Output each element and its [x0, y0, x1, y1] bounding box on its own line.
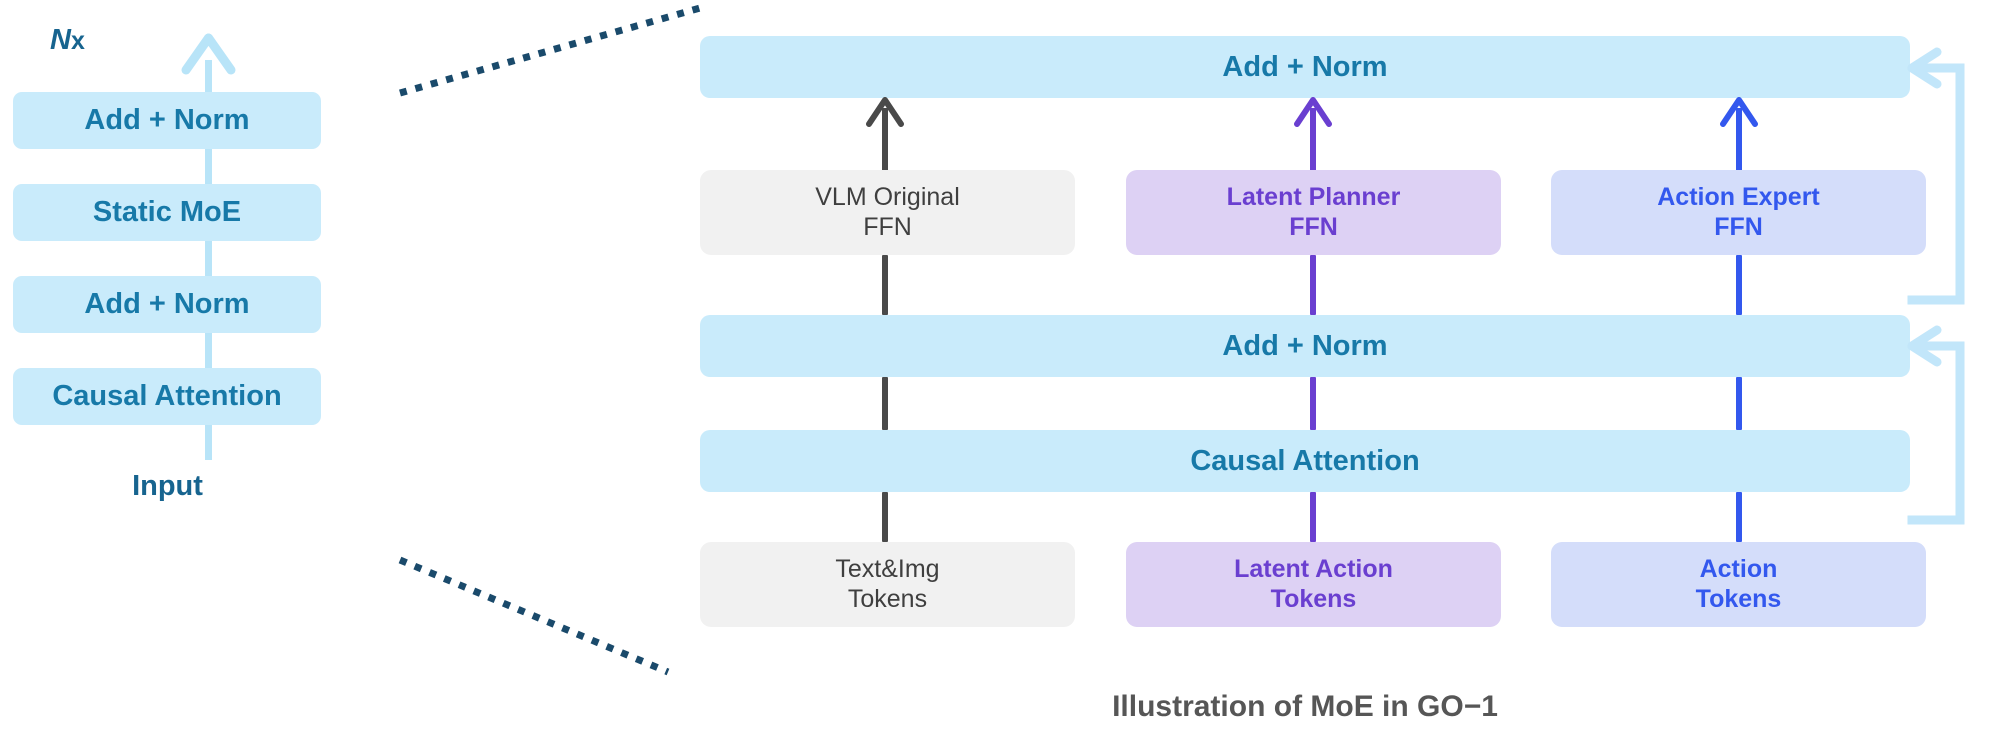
connector-latent-tokens-to-causal: [1310, 492, 1316, 542]
connector-latent-to-add-norm: [1310, 255, 1316, 315]
connector-action-tokens-to-causal: [1736, 492, 1742, 542]
connector-vlm-to-causal-attention: [882, 377, 888, 430]
right-causal-attention-label: Causal Attention: [1190, 444, 1419, 478]
right-add-norm-top-label: Add + Norm: [1222, 50, 1387, 84]
vlm-output-arrow-icon: [869, 100, 901, 170]
repeat-count-x: x: [71, 27, 85, 55]
token-action-line1: Action: [1696, 555, 1782, 585]
expert-latent-line2: FFN: [1227, 213, 1401, 243]
expert-action-line2: FFN: [1657, 213, 1820, 243]
action-expert-output-arrow-icon: [1723, 100, 1755, 170]
token-action-line2: Tokens: [1696, 585, 1782, 615]
figure-caption-text: Illustration of MoE in GO−1: [1112, 690, 1498, 723]
figure-caption: Illustration of MoE in GO−1: [700, 690, 1910, 724]
expert-box-vlm-original-ffn[interactable]: VLM Original FFN: [700, 170, 1075, 255]
connector-latent-to-causal-attention: [1310, 377, 1316, 430]
right-add-norm-middle-label: Add + Norm: [1222, 329, 1387, 363]
right-causal-attention[interactable]: Causal Attention: [700, 430, 1910, 492]
left-block-static-moe[interactable]: Static MoE: [13, 184, 321, 241]
callout-dotted-line-top: [400, 8, 700, 93]
token-box-action-tokens[interactable]: Action Tokens: [1551, 542, 1926, 627]
connector-action-to-add-norm: [1736, 255, 1742, 315]
right-add-norm-top[interactable]: Add + Norm: [700, 36, 1910, 98]
residual-arrow-lower-icon: [1912, 330, 1960, 520]
token-text-img-line2: Tokens: [835, 585, 939, 615]
token-box-text-img-tokens[interactable]: Text&Img Tokens: [700, 542, 1075, 627]
token-latent-line2: Tokens: [1234, 585, 1393, 615]
connector-vlm-to-add-norm: [882, 255, 888, 315]
token-box-latent-action-tokens[interactable]: Latent Action Tokens: [1126, 542, 1501, 627]
moe-illustration-figure: Nx Add + Norm Static MoE Add + Norm Caus…: [0, 0, 2014, 748]
left-block-add-norm-top[interactable]: Add + Norm: [13, 92, 321, 149]
latent-planner-output-arrow-icon: [1297, 100, 1329, 170]
expert-latent-line1: Latent Planner: [1227, 183, 1401, 213]
left-block-causal-attention-label: Causal Attention: [52, 379, 281, 413]
expert-action-line1: Action Expert: [1657, 183, 1820, 213]
callout-dotted-line-bottom: [400, 560, 668, 672]
expert-box-action-expert-ffn[interactable]: Action Expert FFN: [1551, 170, 1926, 255]
left-input-label: Input: [60, 470, 275, 503]
expert-vlm-line2: FFN: [815, 213, 960, 243]
repeat-count-n: N: [50, 24, 71, 56]
expert-vlm-line1: VLM Original: [815, 183, 960, 213]
left-block-add-norm-bottom[interactable]: Add + Norm: [13, 276, 321, 333]
left-input-label-text: Input: [132, 470, 203, 502]
right-add-norm-middle[interactable]: Add + Norm: [700, 315, 1910, 377]
repeat-count-label: Nx: [50, 24, 85, 57]
connector-action-to-causal-attention: [1736, 377, 1742, 430]
token-text-img-line1: Text&Img: [835, 555, 939, 585]
left-block-add-norm-top-label: Add + Norm: [84, 103, 249, 137]
left-block-add-norm-bottom-label: Add + Norm: [84, 287, 249, 321]
left-block-causal-attention[interactable]: Causal Attention: [13, 368, 321, 425]
token-latent-line1: Latent Action: [1234, 555, 1393, 585]
connector-text-img-tokens-to-causal: [882, 492, 888, 542]
expert-box-latent-planner-ffn[interactable]: Latent Planner FFN: [1126, 170, 1501, 255]
left-block-static-moe-label: Static MoE: [93, 195, 241, 229]
